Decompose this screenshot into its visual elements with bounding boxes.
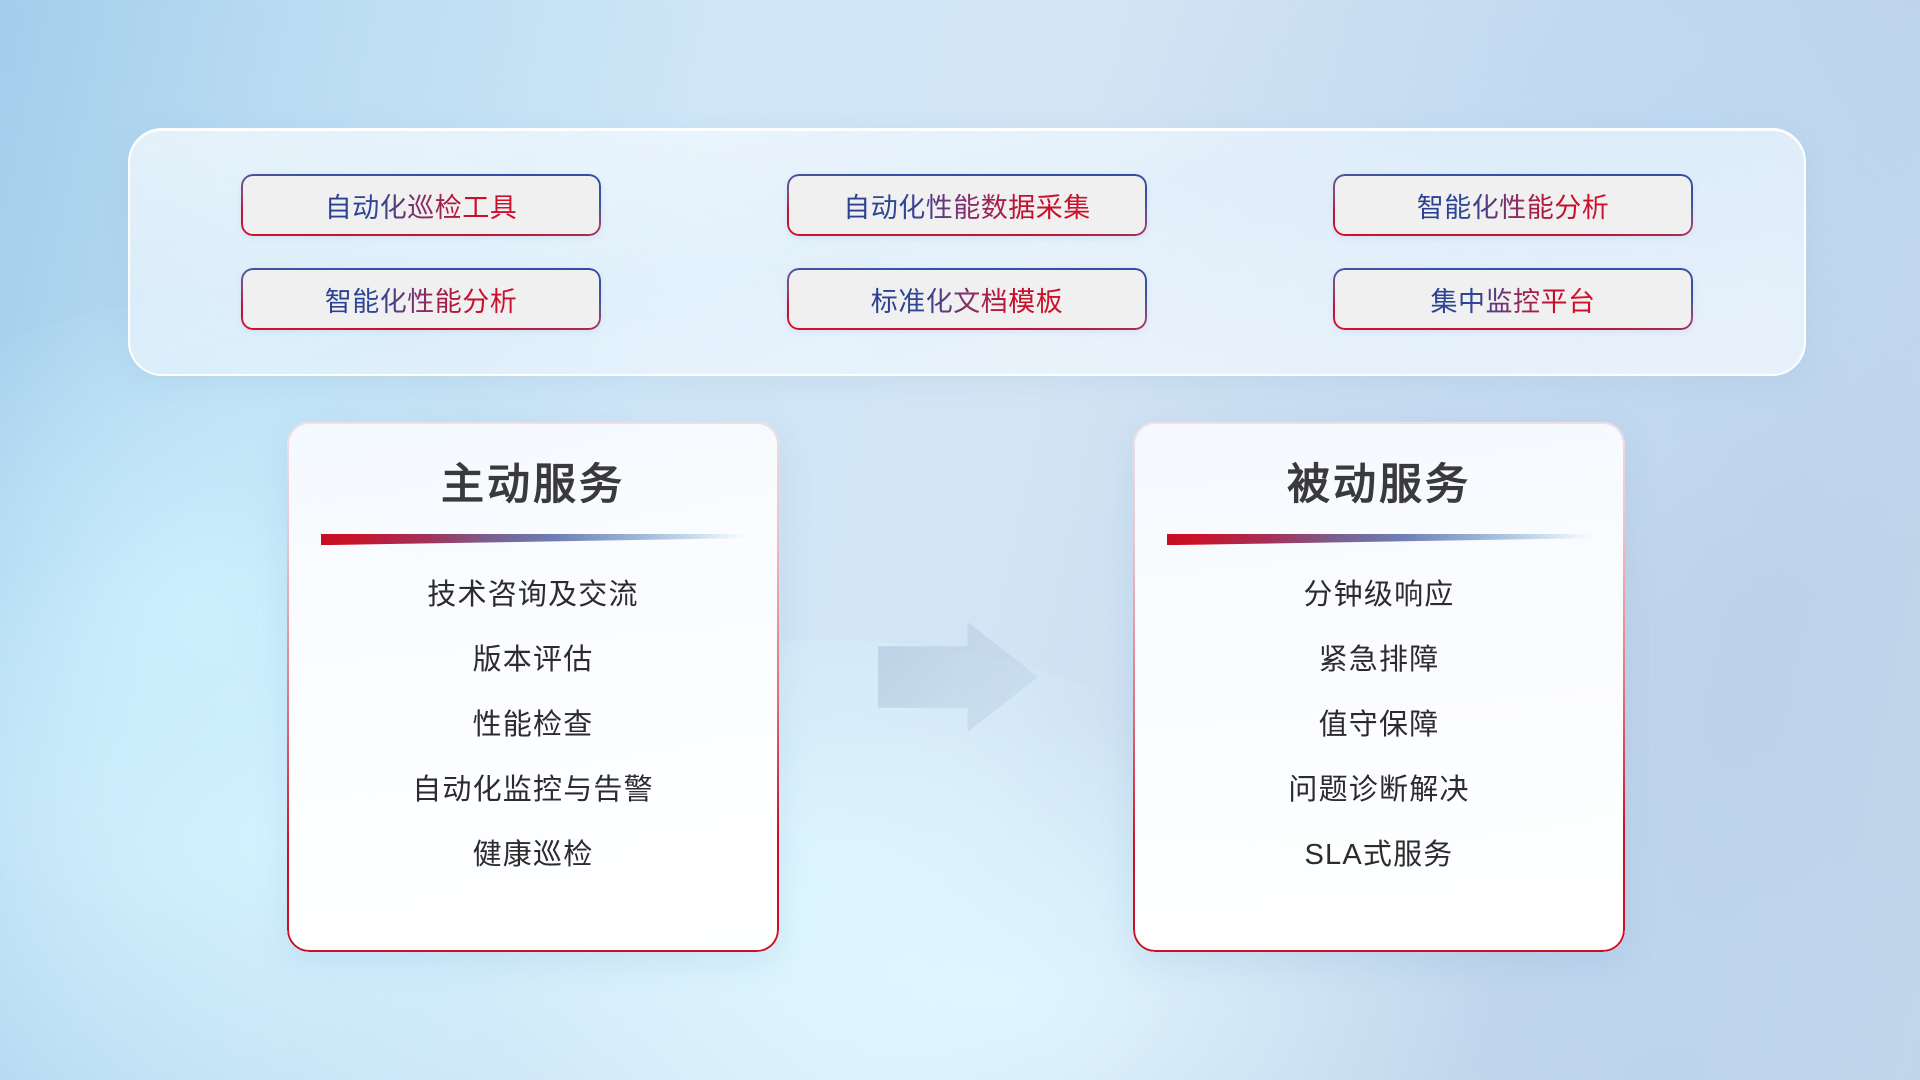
- list-item: 版本评估: [473, 636, 594, 678]
- capability-pill-6[interactable]: 集中监控平台: [1333, 268, 1693, 330]
- list-item: SLA式服务: [1304, 831, 1453, 873]
- capability-pill-label: 智能化性能分析: [325, 280, 518, 319]
- capability-pill-3[interactable]: 智能化性能分析: [1333, 174, 1693, 236]
- arrow-right-icon: [878, 622, 1038, 732]
- capability-pill-2[interactable]: 自动化性能数据采集: [787, 174, 1147, 236]
- list-item: 紧急排障: [1319, 636, 1440, 678]
- service-card-reactive: 被动服务 分钟级响应 紧急排障 值守保障 问题诊断解决 SLA式服务: [1133, 422, 1625, 952]
- capability-pill-label: 集中监控平台: [1431, 280, 1596, 319]
- list-item: 技术咨询及交流: [427, 571, 638, 613]
- service-card-proactive: 主动服务 技术咨询及交流 版本评估 性能检查 自动化监控与告警 健康巡检: [287, 422, 779, 952]
- capability-pill-label: 自动化性能数据采集: [843, 186, 1091, 225]
- list-item: 自动化监控与告警: [412, 766, 654, 808]
- card-title: 主动服务: [287, 450, 779, 512]
- capability-pill-label: 自动化巡检工具: [325, 186, 518, 225]
- card-item-list: 分钟级响应 紧急排障 值守保障 问题诊断解决 SLA式服务: [1133, 571, 1625, 873]
- card-item-list: 技术咨询及交流 版本评估 性能检查 自动化监控与告警 健康巡检: [287, 571, 779, 873]
- card-accent-bar: [1167, 534, 1591, 545]
- capability-pill-label: 标准化文档模板: [871, 280, 1064, 319]
- list-item: 问题诊断解决: [1288, 766, 1469, 808]
- list-item: 性能检查: [473, 701, 594, 743]
- list-item: 健康巡检: [473, 831, 594, 873]
- capability-pill-4[interactable]: 智能化性能分析: [241, 268, 601, 330]
- card-title: 被动服务: [1133, 450, 1625, 512]
- list-item: 分钟级响应: [1303, 571, 1454, 613]
- capability-pill-label: 智能化性能分析: [1417, 186, 1610, 225]
- list-item: 值守保障: [1319, 701, 1440, 743]
- capability-panel: 自动化巡检工具 自动化性能数据采集 智能化性能分析 智能化性能分析 标准化文档模…: [128, 128, 1806, 376]
- capability-pill-1[interactable]: 自动化巡检工具: [241, 174, 601, 236]
- capability-pill-5[interactable]: 标准化文档模板: [787, 268, 1147, 330]
- card-accent-bar: [321, 534, 745, 545]
